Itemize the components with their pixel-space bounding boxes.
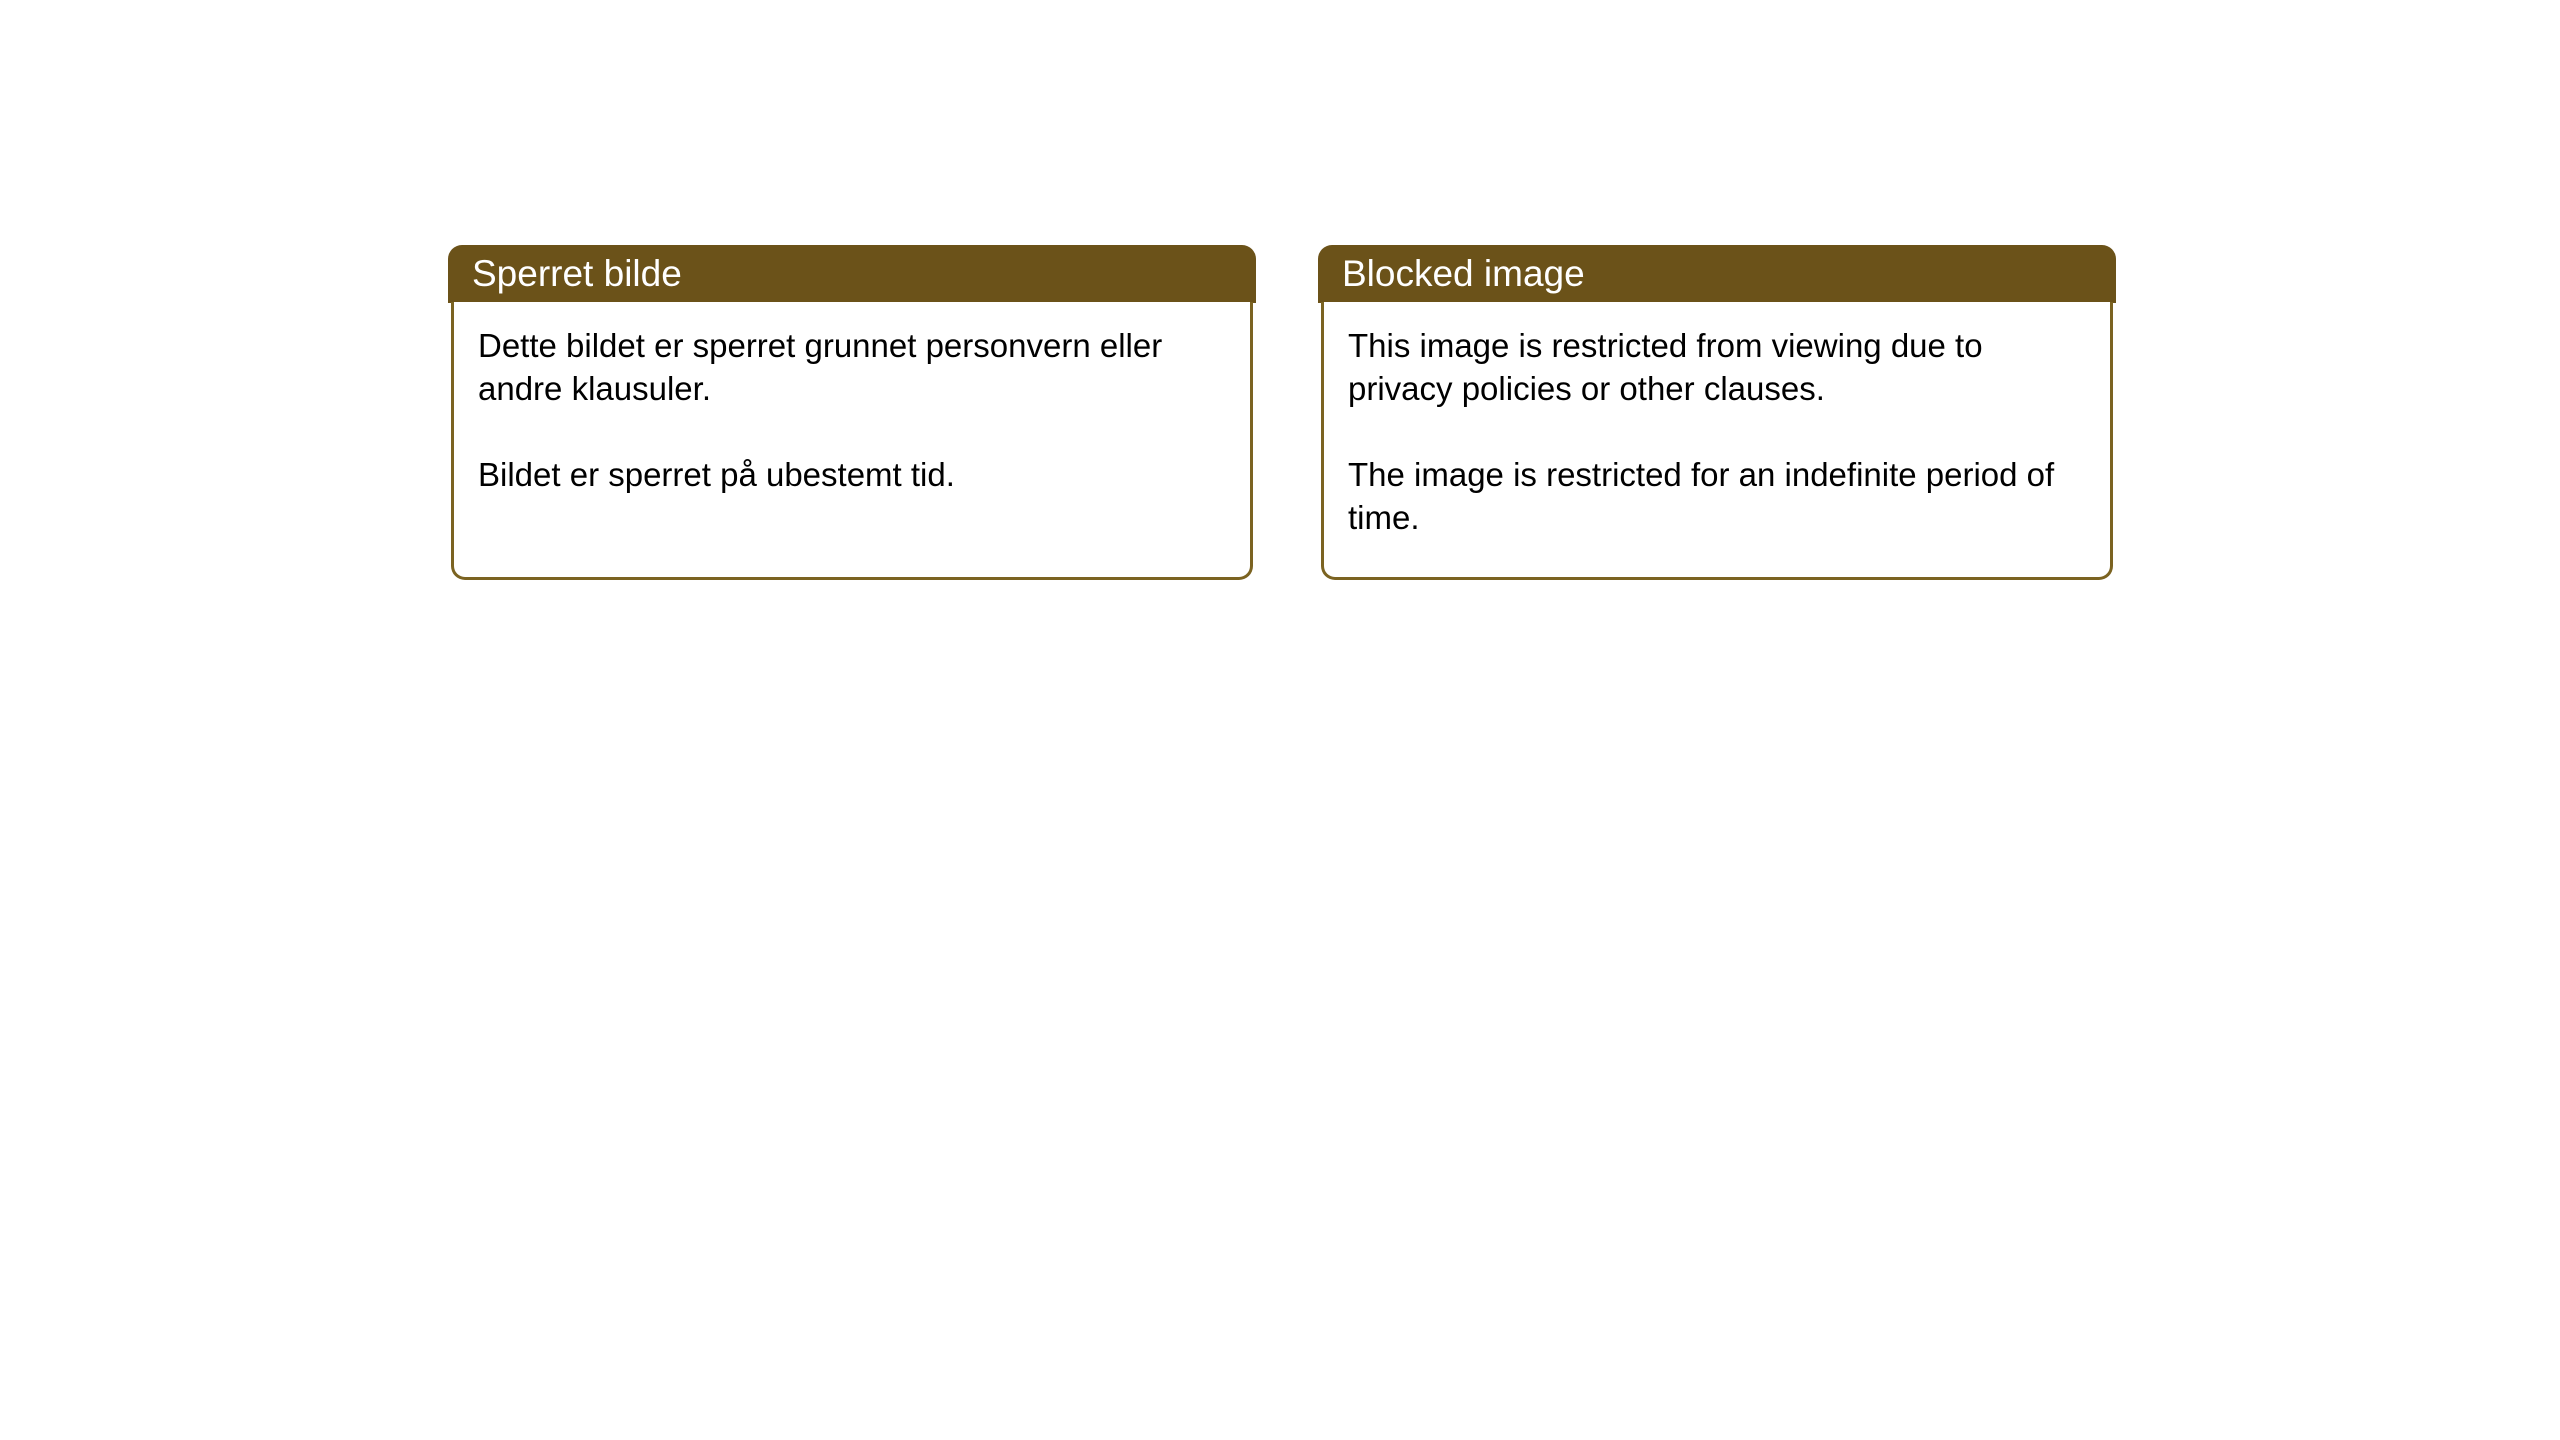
card-paragraph-reason-english: This image is restricted from viewing du… xyxy=(1348,324,2090,410)
blocked-image-notice-area: Sperret bilde Dette bildet er sperret gr… xyxy=(0,0,2560,1440)
card-paragraph-duration-norwegian: Bildet er sperret på ubestemt tid. xyxy=(478,453,1230,496)
blocked-image-card-english: Blocked image This image is restricted f… xyxy=(1318,245,2116,580)
card-paragraph-duration-english: The image is restricted for an indefinit… xyxy=(1348,453,2090,539)
card-body-norwegian: Dette bildet er sperret grunnet personve… xyxy=(451,302,1253,580)
card-header-norwegian: Sperret bilde xyxy=(448,245,1256,303)
blocked-image-card-norwegian: Sperret bilde Dette bildet er sperret gr… xyxy=(448,245,1256,580)
card-paragraph-reason-norwegian: Dette bildet er sperret grunnet personve… xyxy=(478,324,1230,410)
card-body-english: This image is restricted from viewing du… xyxy=(1321,302,2113,580)
card-header-english: Blocked image xyxy=(1318,245,2116,303)
